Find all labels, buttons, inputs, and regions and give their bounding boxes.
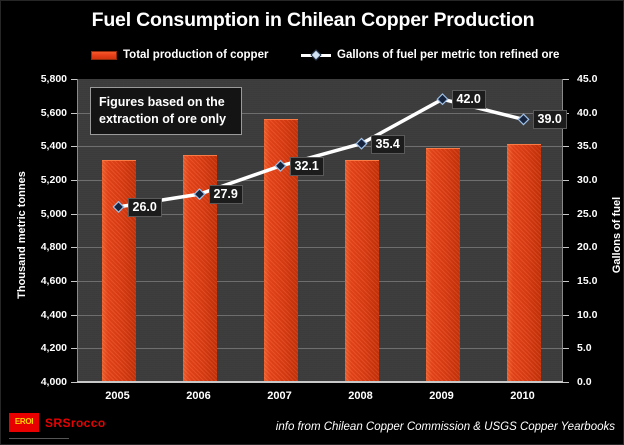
right-axis-tick-label: 35.0 — [577, 140, 621, 152]
data-label: 32.1 — [290, 157, 324, 176]
left-axis-tick-label: 4,000 — [19, 376, 67, 388]
legend-bar-swatch-icon — [91, 51, 117, 60]
legend-item-line-series: Gallons of fuel per metric ton refined o… — [301, 49, 559, 61]
left-axis-tick-label: 5,200 — [19, 174, 67, 186]
legend-label-bar-series: Total production of copper — [123, 49, 268, 61]
right-axis-tick-label: 40.0 — [577, 107, 621, 119]
right-axis-tick-mark — [563, 382, 569, 383]
right-axis-tick-label: 10.0 — [577, 309, 621, 321]
data-label: 42.0 — [452, 90, 486, 109]
x-axis-category-label: 2006 — [159, 390, 239, 402]
legend-label-line-series: Gallons of fuel per metric ton refined o… — [337, 49, 559, 61]
eroi-logo-icon: EROI — [9, 413, 39, 432]
left-axis-tick-label: 4,600 — [19, 275, 67, 287]
annotation-box: Figures based on the extraction of ore o… — [90, 87, 242, 135]
left-axis-tick-label: 5,000 — [19, 208, 67, 220]
x-axis-category-label: 2007 — [240, 390, 320, 402]
x-axis-category-label: 2005 — [78, 390, 158, 402]
chart-legend: Total production of copper Gallons of fu… — [1, 49, 624, 67]
line-marker — [194, 189, 204, 199]
line-marker — [113, 202, 123, 212]
annotation-line-2: extraction of ore only — [99, 111, 233, 128]
x-axis-category-label: 2008 — [321, 390, 401, 402]
left-axis-tick-label: 5,600 — [19, 107, 67, 119]
right-axis-tick-label: 15.0 — [577, 275, 621, 287]
logo-mark-text: EROI — [9, 417, 39, 426]
right-axis-tick-label: 5.0 — [577, 342, 621, 354]
left-axis-tick-label: 5,800 — [19, 73, 67, 85]
x-axis-category-label: 2010 — [483, 390, 563, 402]
data-label: 26.0 — [128, 198, 162, 217]
left-axis-tick-label: 4,200 — [19, 342, 67, 354]
legend-diamond-marker-icon — [310, 49, 321, 60]
brand-logo: EROI SRSrocco — [9, 413, 106, 432]
logo-wordmark: SRSrocco — [45, 416, 106, 430]
chart-title: Fuel Consumption in Chilean Copper Produ… — [1, 9, 624, 32]
left-axis-tick-label: 5,400 — [19, 140, 67, 152]
data-label: 39.0 — [533, 110, 567, 129]
line-marker — [518, 114, 528, 124]
line-marker — [275, 161, 285, 171]
chart-container: Fuel Consumption in Chilean Copper Produ… — [0, 0, 624, 445]
right-axis-tick-label: 0.0 — [577, 376, 621, 388]
left-axis-tick-label: 4,400 — [19, 309, 67, 321]
footer-divider — [9, 438, 69, 439]
right-axis-tick-label: 25.0 — [577, 208, 621, 220]
left-axis-tick-label: 4,800 — [19, 241, 67, 253]
left-axis-title: Thousand metric tonnes — [16, 140, 28, 330]
data-label: 27.9 — [209, 185, 243, 204]
legend-line-swatch-icon — [301, 50, 331, 61]
legend-item-bar-series: Total production of copper — [91, 49, 268, 61]
data-label: 35.4 — [371, 135, 405, 154]
x-axis-category-label: 2009 — [402, 390, 482, 402]
right-axis-tick-label: 30.0 — [577, 174, 621, 186]
right-axis-tick-label: 45.0 — [577, 73, 621, 85]
right-axis-tick-label: 20.0 — [577, 241, 621, 253]
annotation-line-1: Figures based on the — [99, 94, 233, 111]
x-axis-line — [77, 381, 563, 383]
